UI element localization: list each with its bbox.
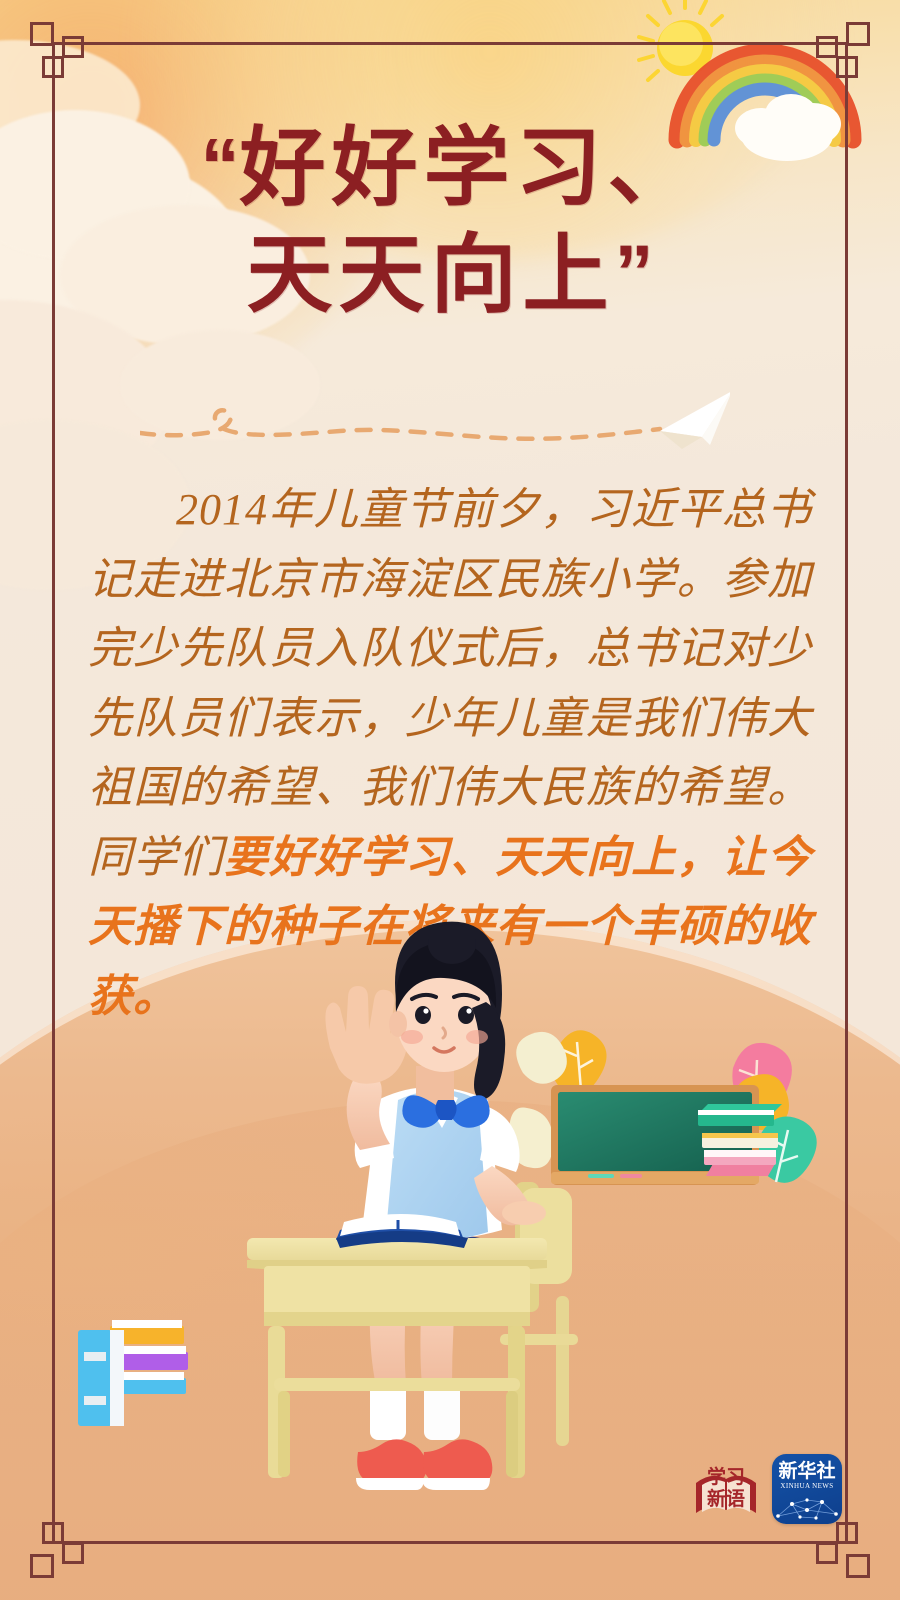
logo-group: 学习 新语 新华社 XINHUA NEWS: [690, 1452, 842, 1526]
book-stack-icon: [78, 1320, 188, 1426]
xinhua-logo-en-text: XINHUA NEWS: [772, 1483, 842, 1490]
svg-text:学习: 学习: [707, 1465, 745, 1488]
xinhua-news-logo[interactable]: 新华社 XINHUA NEWS: [772, 1454, 842, 1524]
poster-root: “好好学习、 天天向上” 2014年儿童节前夕，习近平总书记走进北京市海淀区民族…: [0, 0, 900, 1600]
svg-text:新语: 新语: [707, 1487, 745, 1510]
classroom-illustration: [0, 0, 900, 1600]
network-graphic-icon: [772, 1492, 842, 1522]
leaf-icon: [516, 1032, 567, 1084]
xinhua-logo-cn-text: 新华社: [772, 1462, 842, 1481]
xuexi-xinyu-logo[interactable]: 学习 新语: [690, 1453, 762, 1525]
